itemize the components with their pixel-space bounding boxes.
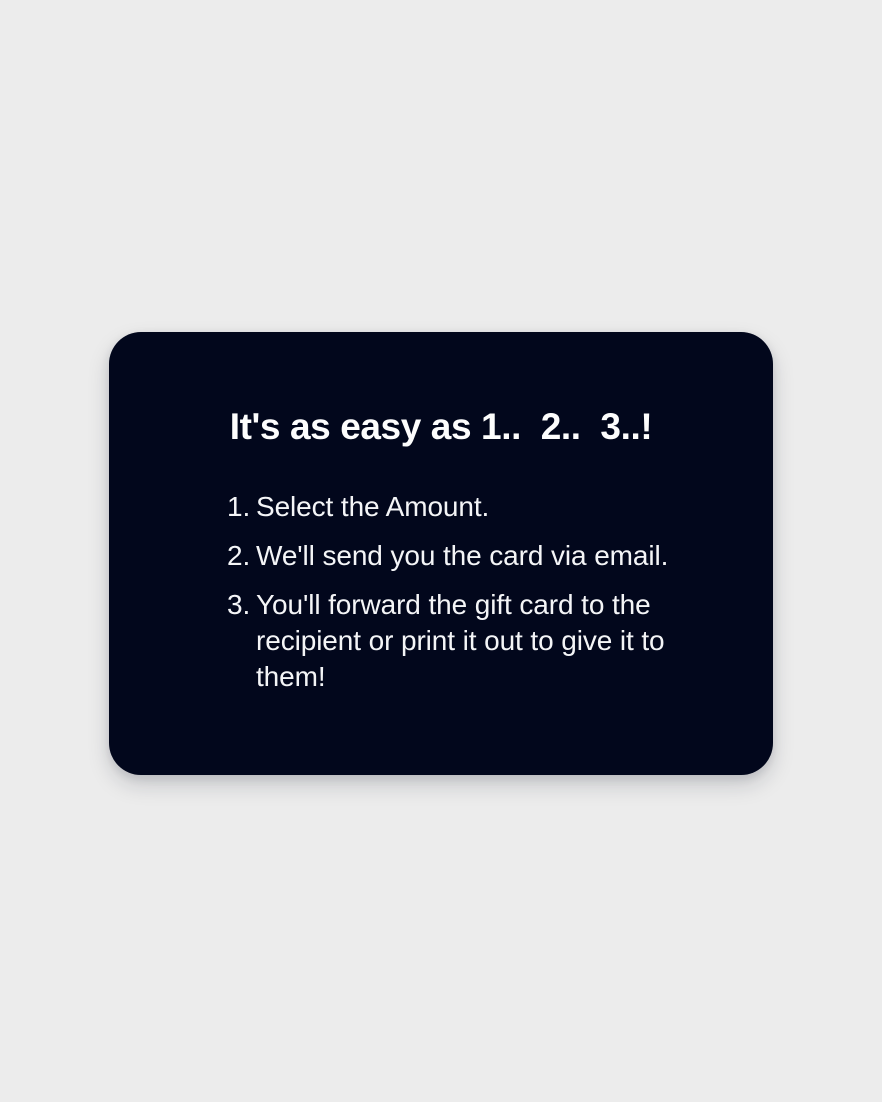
list-item: 2. We'll send you the card via email.: [227, 538, 675, 574]
step-text: We'll send you the card via email.: [256, 538, 675, 574]
step-number: 1.: [227, 489, 256, 525]
list-item: 3. You'll forward the gift card to the r…: [227, 587, 675, 695]
step-text: You'll forward the gift card to the reci…: [256, 587, 675, 695]
list-item: 1. Select the Amount.: [227, 489, 675, 525]
steps-list: 1. Select the Amount. 2. We'll send you …: [227, 489, 675, 695]
page-background: It's as easy as 1.. 2.. 3..! 1. Select t…: [0, 0, 882, 1102]
gift-card-content: It's as easy as 1.. 2.. 3..! 1. Select t…: [109, 332, 773, 775]
step-number: 3.: [227, 587, 256, 623]
card-heading: It's as easy as 1.. 2.. 3..!: [109, 405, 773, 449]
step-number: 2.: [227, 538, 256, 574]
gift-card-panel: It's as easy as 1.. 2.. 3..! 1. Select t…: [109, 332, 773, 775]
step-text: Select the Amount.: [256, 489, 675, 525]
